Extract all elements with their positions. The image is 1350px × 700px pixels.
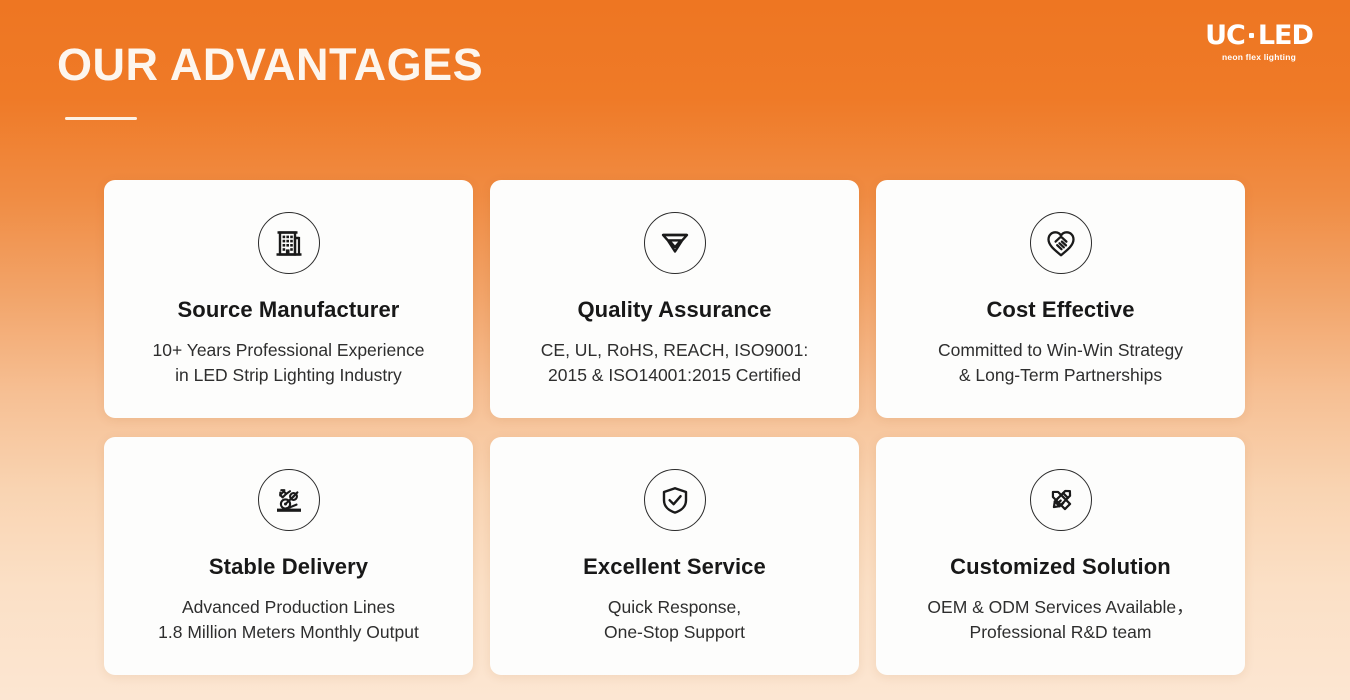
heart-handshake-icon [1030, 212, 1092, 274]
logo-wordmark: UC LED [1200, 22, 1318, 49]
logo-tagline: neon flex lighting [1200, 52, 1318, 62]
title-underline-rule [65, 117, 137, 120]
advantage-card-source-manufacturer: Source Manufacturer 10+ Years Profession… [104, 180, 473, 418]
card-title: Stable Delivery [209, 555, 368, 579]
robotic-arm-icon [258, 469, 320, 531]
card-description: Quick Response, One-Stop Support [590, 595, 759, 645]
page-title: OUR ADVANTAGES [57, 42, 483, 87]
card-title: Customized Solution [950, 555, 1171, 579]
advantage-card-stable-delivery: Stable Delivery Advanced Production Line… [104, 437, 473, 675]
card-title: Quality Assurance [577, 298, 771, 322]
card-title: Source Manufacturer [178, 298, 400, 322]
logo-word-right: LED [1258, 22, 1313, 49]
brand-logo: UC LED neon flex lighting [1200, 22, 1318, 62]
slide-root: OUR ADVANTAGES UC LED neon flex lighting [0, 0, 1350, 700]
office-building-icon [258, 212, 320, 274]
pencil-ruler-icon [1030, 469, 1092, 531]
card-description: OEM & ODM Services Available， Profession… [913, 595, 1207, 645]
diamond-gem-icon [644, 212, 706, 274]
card-title: Cost Effective [986, 298, 1134, 322]
advantage-card-cost-effective: Cost Effective Committed to Win-Win Stra… [876, 180, 1245, 418]
logo-word-left: UC [1205, 22, 1245, 49]
dot-separator-icon [1249, 33, 1254, 38]
card-description: 10+ Years Professional Experience in LED… [139, 338, 439, 388]
card-description: Advanced Production Lines 1.8 Million Me… [144, 595, 433, 645]
advantage-card-customized-solution: Customized Solution OEM & ODM Services A… [876, 437, 1245, 675]
advantage-card-excellent-service: Excellent Service Quick Response, One-St… [490, 437, 859, 675]
card-title: Excellent Service [583, 555, 766, 579]
shield-check-icon [644, 469, 706, 531]
card-description: CE, UL, RoHS, REACH, ISO9001: 2015 & ISO… [527, 338, 822, 388]
card-description: Committed to Win-Win Strategy & Long-Ter… [924, 338, 1197, 388]
advantage-card-quality-assurance: Quality Assurance CE, UL, RoHS, REACH, I… [490, 180, 859, 418]
advantages-grid: Source Manufacturer 10+ Years Profession… [104, 180, 1244, 675]
